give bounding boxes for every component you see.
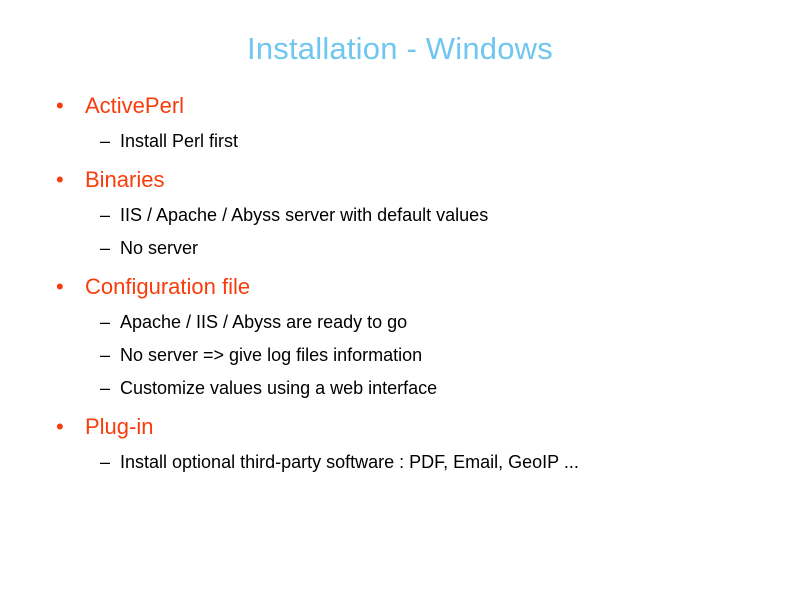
outline-level2-label: Customize values using a web interface	[120, 378, 437, 398]
outline-level2-item: – Customize values using a web interface	[48, 377, 760, 399]
outline-level2-label: Install optional third-party software : …	[120, 452, 579, 472]
bullet-dash-icon: –	[100, 311, 110, 333]
bullet-dash-icon: –	[100, 130, 110, 152]
outline-level2-label: Install Perl first	[120, 131, 238, 151]
slide: Installation - Windows • ActivePerl – In…	[0, 0, 800, 600]
outline-level2-item: – Install optional third-party software …	[48, 451, 760, 473]
bullet-dash-icon: –	[100, 377, 110, 399]
outline-level1-label: Plug-in	[85, 414, 153, 439]
bullet-dash-icon: –	[100, 204, 110, 226]
bullet-dot-icon: •	[56, 273, 64, 300]
outline-level2-label: Apache / IIS / Abyss are ready to go	[120, 312, 407, 332]
bullet-dot-icon: •	[56, 413, 64, 440]
outline-level1-item: • Configuration file	[48, 273, 760, 300]
outline-level1-item: • Plug-in	[48, 413, 760, 440]
outline-group: • Binaries – IIS / Apache / Abyss server…	[48, 166, 760, 259]
slide-body-outline: • ActivePerl – Install Perl first • Bina…	[48, 92, 760, 473]
outline-level2-item: – No server => give log files informatio…	[48, 344, 760, 366]
outline-group: • ActivePerl – Install Perl first	[48, 92, 760, 152]
outline-level1-item: • Binaries	[48, 166, 760, 193]
outline-level1-item: • ActivePerl	[48, 92, 760, 119]
outline-level1-label: Configuration file	[85, 274, 250, 299]
outline-level2-item: – No server	[48, 237, 760, 259]
outline-level1-label: Binaries	[85, 167, 164, 192]
bullet-dash-icon: –	[100, 451, 110, 473]
outline-level1-label: ActivePerl	[85, 93, 184, 118]
outline-group: • Configuration file – Apache / IIS / Ab…	[48, 273, 760, 399]
bullet-dot-icon: •	[56, 166, 64, 193]
page-title: Installation - Windows	[0, 30, 800, 68]
bullet-dash-icon: –	[100, 344, 110, 366]
outline-level2-item: – Install Perl first	[48, 130, 760, 152]
outline-level2-item: – Apache / IIS / Abyss are ready to go	[48, 311, 760, 333]
outline-group: • Plug-in – Install optional third-party…	[48, 413, 760, 473]
bullet-dash-icon: –	[100, 237, 110, 259]
outline-level2-label: No server	[120, 238, 198, 258]
outline-level2-item: – IIS / Apache / Abyss server with defau…	[48, 204, 760, 226]
outline-level2-label: IIS / Apache / Abyss server with default…	[120, 205, 488, 225]
outline-level2-label: No server => give log files information	[120, 345, 422, 365]
bullet-dot-icon: •	[56, 92, 64, 119]
